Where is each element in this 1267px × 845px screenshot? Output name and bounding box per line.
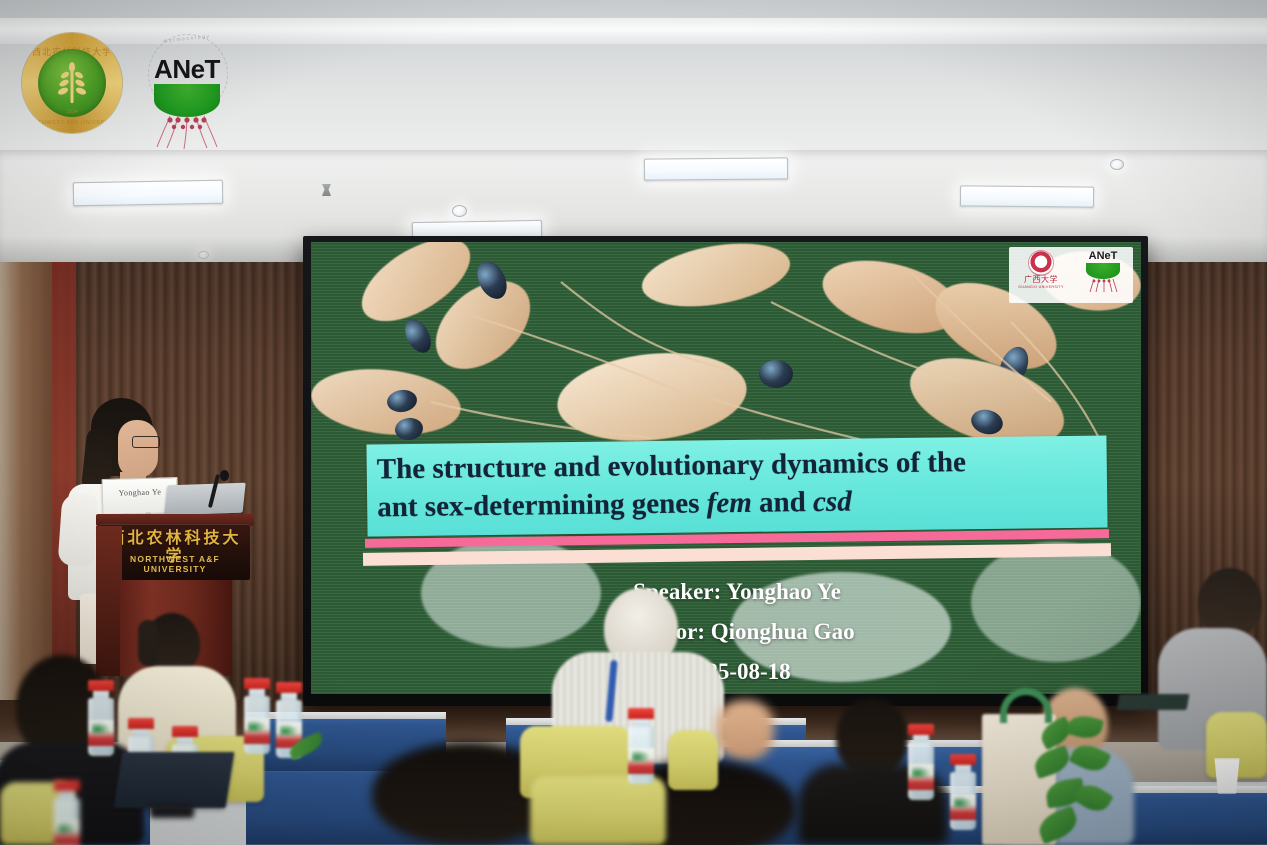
bottle-body — [88, 698, 114, 756]
bottle-neck — [93, 691, 109, 698]
slide-logo-strip: 广西大学 GUANGXI UNIVERSITY ANeT — [1009, 247, 1133, 303]
potted-plant — [1032, 716, 1116, 845]
ceiling-downlight — [452, 205, 467, 217]
bottle-label — [54, 820, 80, 845]
slide-anet-dome — [1086, 263, 1120, 279]
anet-logo: myrmecology ANeT — [148, 38, 226, 150]
bottle-body — [244, 696, 270, 754]
bottle-label — [88, 720, 114, 746]
bottle-cap — [276, 682, 302, 693]
glasses-icon — [132, 436, 160, 448]
bottle-label — [628, 748, 654, 774]
anet-logo-dome — [154, 84, 220, 117]
bottle-label — [950, 794, 976, 820]
anet-logo-wordmark: ANeT — [154, 54, 220, 85]
bottle-cap — [628, 708, 654, 719]
water-bottle — [908, 724, 934, 800]
bottle-neck — [59, 791, 75, 798]
bottle-neck — [955, 765, 971, 772]
lectern-side — [96, 526, 122, 676]
bottle-body — [628, 726, 654, 784]
bottle-cap — [908, 724, 934, 735]
bottle-body — [908, 742, 934, 800]
slide-advisor-line: Advisor: Qionghua Gao — [367, 612, 1107, 652]
water-bottle — [244, 678, 270, 754]
bottle-label — [244, 718, 270, 744]
bottle-cap — [88, 680, 114, 691]
bottle-cap — [54, 780, 80, 791]
microphone-icon — [220, 470, 229, 481]
attendee-hair-bun — [138, 620, 158, 666]
bottle-body — [950, 772, 976, 830]
slide-anet-wordmark: ANeT — [1078, 250, 1128, 263]
laptop — [114, 752, 235, 808]
water-bottle — [54, 780, 80, 845]
phone — [150, 804, 194, 818]
bottle-label — [908, 764, 934, 790]
presenter-face — [118, 420, 158, 478]
plant-leaf — [1031, 745, 1073, 779]
led-screen: 广西大学 GUANGXI UNIVERSITY ANeT — [311, 242, 1141, 694]
guangxi-logo-cn-text: 广西大学 — [1014, 275, 1068, 285]
bottle-cap — [172, 726, 198, 737]
wall-left-edge — [0, 262, 52, 722]
nwafu-university-logo: 西北农林科技大学 1934 NORTHWEST A&F UNIVERSITY — [22, 33, 122, 133]
attendee-hand — [716, 700, 774, 760]
bottle-neck — [133, 729, 149, 736]
bottle-cap — [244, 678, 270, 689]
slide-anet-logo: ANeT — [1078, 250, 1128, 300]
wheat-icon — [52, 59, 92, 105]
guangxi-university-logo: 广西大学 GUANGXI UNIVERSITY — [1014, 250, 1068, 300]
bottle-neck — [633, 719, 649, 726]
lectern-front-panel: 西北农林科技大学 NORTHWEST A&F UNIVERSITY — [100, 524, 250, 580]
slide-title-line-2a: ant sex-determining genes — [377, 487, 707, 523]
nwafu-logo-en-text: NORTHWEST A&F UNIVERSITY — [24, 120, 120, 126]
chair — [668, 730, 718, 790]
lectern-en-text: NORTHWEST A&F UNIVERSITY — [100, 554, 250, 574]
slide-anet-legs-icon — [1086, 279, 1120, 293]
ceiling-panel-light — [644, 157, 788, 180]
nwafu-logo-year: 1934 — [66, 109, 77, 115]
anet-logo-ant-legs-icon — [154, 114, 220, 150]
slide-title-line-2b: and — [752, 486, 814, 519]
water-bottle — [628, 708, 654, 784]
slide-date-line: 2025-08-18 — [367, 652, 1107, 692]
plant-leaf — [1035, 805, 1082, 844]
ceiling-panel-light — [960, 185, 1094, 207]
ceiling-downlight — [1110, 159, 1124, 170]
chair — [530, 776, 666, 845]
gene-name-fem: fem — [707, 487, 752, 520]
bottle-neck — [281, 693, 297, 700]
bottle-cap — [128, 718, 154, 729]
water-bottle — [88, 680, 114, 756]
tablet-device — [1117, 694, 1190, 710]
conference-photo: 西北农林科技大学 1934 NORTHWEST A&F UNIVERSITY m… — [0, 0, 1267, 845]
presenter-sleeve — [58, 493, 99, 567]
bottle-neck — [177, 737, 193, 744]
bottle-neck — [249, 689, 265, 696]
bottle-cap — [950, 754, 976, 765]
plant-leaf — [1066, 712, 1104, 742]
laptop-on-lectern — [164, 483, 246, 516]
plant-leaf — [1069, 739, 1112, 776]
slide-speaker-line: Speaker: Yonghao Ye — [367, 572, 1107, 612]
slide-title: The structure and evolutionary dynamics … — [367, 437, 1108, 526]
gene-name-csd: csd — [813, 486, 852, 518]
bottle-body — [54, 798, 80, 845]
guangxi-logo-en-text: GUANGXI UNIVERSITY — [1014, 285, 1068, 289]
water-bottle — [950, 754, 976, 830]
ceiling-panel-light — [73, 180, 223, 207]
slide-metadata: Speaker: Yonghao Ye Advisor: Qionghua Ga… — [367, 572, 1107, 692]
guangxi-seal-icon — [1029, 251, 1053, 275]
bottle-neck — [913, 735, 929, 742]
